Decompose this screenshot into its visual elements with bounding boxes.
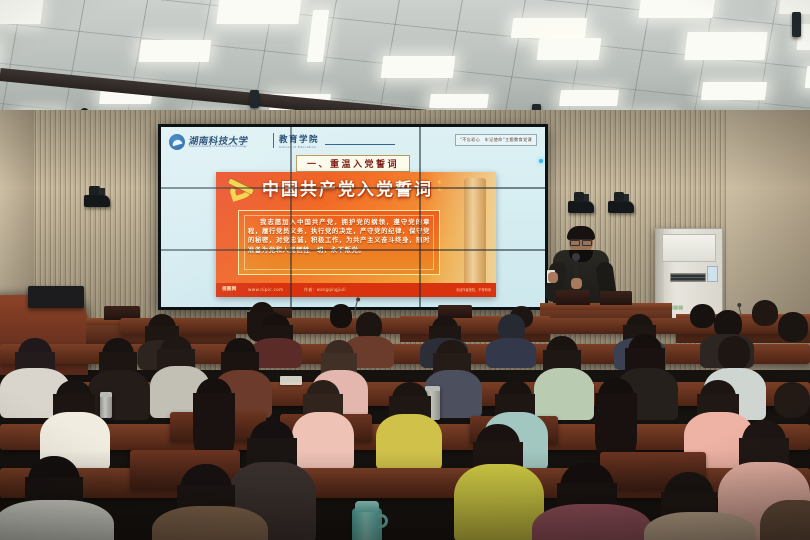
university-logo-icon — [169, 134, 185, 150]
audience-area — [0, 300, 810, 540]
ceiling-light — [537, 38, 602, 60]
slide-section-title: 一、重温入党誓词 — [296, 155, 410, 172]
hammer-and-sickle-icon — [225, 179, 259, 203]
video-wall-seam-h — [161, 249, 545, 251]
audience-head — [690, 304, 715, 328]
ceiling-light — [381, 56, 456, 78]
slide-theme-ribbon: “不忘初心 牢记使命”主题教育党课 — [455, 134, 537, 146]
wall-speaker-left — [84, 186, 112, 210]
ac-control-panel[interactable] — [707, 266, 718, 282]
poster-footer: 视图网 www.nipic.com 作者：wangqingjiuli 未经作者授… — [216, 283, 496, 297]
audience-head — [778, 312, 808, 342]
photo-scene: 湖南科技大学 Hunan University of Science and T… — [0, 0, 810, 540]
audience-head — [498, 380, 532, 416]
video-wall-seam-h — [161, 187, 545, 189]
papers — [280, 376, 302, 385]
poster-footer-notice: 未经作者授权，不得商用 — [456, 287, 491, 292]
header-rule — [325, 144, 395, 145]
ceiling-light — [701, 82, 767, 100]
audience-head — [436, 340, 468, 372]
audience-head — [752, 300, 778, 326]
header-divider — [273, 133, 274, 148]
audience-torso — [88, 370, 150, 420]
audience-torso — [252, 338, 302, 368]
screen-surface: 湖南科技大学 Hunan University of Science and T… — [161, 127, 545, 307]
ceiling-light — [216, 0, 301, 24]
ceiling-light — [429, 94, 489, 108]
video-wall-display[interactable]: 湖南科技大学 Hunan University of Science and T… — [158, 124, 548, 310]
audience-head — [160, 336, 192, 368]
audience-head — [18, 338, 52, 372]
thermos-cup — [100, 392, 112, 418]
ceiling-light — [639, 0, 716, 18]
ceiling-light — [559, 90, 619, 106]
college-name: 教育学院 — [279, 133, 319, 145]
audience-head — [700, 380, 736, 416]
wall-speaker-right-a — [568, 192, 596, 216]
ceiling-light — [511, 18, 587, 38]
audience-head — [306, 380, 340, 416]
presenter-hair — [567, 226, 595, 240]
presentation-slide: 湖南科技大学 Hunan University of Science and T… — [161, 127, 545, 307]
video-wall-seam-v — [419, 127, 421, 307]
audience-head — [628, 334, 662, 370]
audience-head — [392, 382, 428, 418]
oath-text-box: 我志愿加入中国共产党，拥护党的纲领，遵守党的章程，履行党员义务，执行党的决定，严… — [238, 210, 440, 275]
poster-footer-url: www.nipic.com — [248, 287, 283, 292]
poster-pillar-graphic — [464, 178, 486, 288]
college-name-en: School of Education — [279, 145, 316, 149]
hanging-speaker-icon — [250, 90, 259, 108]
slide-header: 湖南科技大学 Hunan University of Science and T… — [165, 130, 541, 156]
audience-head — [324, 340, 354, 372]
audience-head — [330, 304, 352, 328]
foreground-shading — [0, 450, 810, 540]
audience-head — [546, 336, 578, 370]
video-wall-seam-v — [290, 127, 292, 307]
audience-torso — [534, 368, 594, 420]
poster-footer-brand: 视图网 — [222, 286, 237, 292]
glasses-icon — [570, 239, 592, 243]
audience-head — [718, 336, 750, 370]
ceiling-light — [139, 40, 212, 62]
audience-head — [196, 378, 232, 416]
hanging-speaker-icon — [792, 12, 801, 37]
ceiling-light — [0, 0, 44, 24]
oath-poster: ★ ★ ★★ ★ ★ 中国共产党入党誓词 我志愿加入中国共产党，拥护党的纲领，遵… — [216, 172, 496, 297]
audience-torso — [486, 338, 536, 368]
wall-speaker-right-b — [608, 192, 636, 216]
audience-head — [224, 338, 256, 372]
ac-vent-icon — [670, 273, 706, 282]
audience-head — [774, 382, 810, 418]
audience-head — [56, 380, 92, 416]
ceiling-light — [684, 32, 767, 60]
poster-footer-author: 作者：wangqingjiuli — [304, 287, 346, 293]
audience-head — [598, 378, 634, 416]
display-power-indicator — [539, 159, 543, 163]
ac-intake-panel — [662, 234, 716, 262]
audience-head — [102, 338, 134, 372]
university-name-en: Hunan University of Science and Technolo… — [189, 145, 247, 148]
